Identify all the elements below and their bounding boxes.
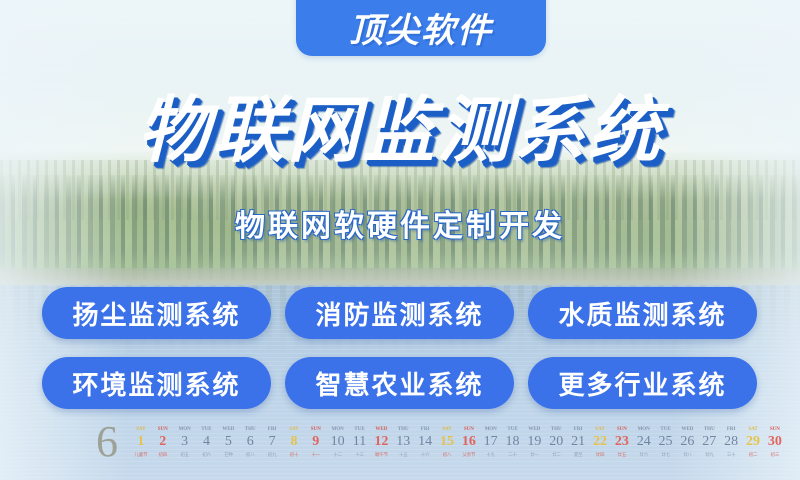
calendar-day: THU6初八 <box>239 427 261 461</box>
calendar-day: WED26廿八 <box>676 427 698 461</box>
calendar-day-number: 17 <box>480 435 502 453</box>
calendar-day-number: 10 <box>327 435 349 453</box>
calendar-day: MON3初五 <box>174 427 196 461</box>
brand-badge[interactable]: 顶尖软件 <box>296 0 546 56</box>
calendar-lunar-label: 初九 <box>261 453 283 461</box>
calendar-day: SUN30初三 <box>764 427 786 461</box>
calendar-lunar-label: 廿一 <box>523 453 545 461</box>
calendar-day-number: 24 <box>633 435 655 453</box>
calendar-days: SAT1儿童节SUN2初四MON3初五TUE4初六WED5芒种THU6初八FRI… <box>130 427 786 461</box>
calendar-lunar-label: 十三 <box>349 453 371 461</box>
calendar-day: WED12端午节 <box>370 427 392 461</box>
calendar-day-number: 12 <box>370 435 392 453</box>
calendar-day: SAT15初八 <box>436 427 458 461</box>
service-pill[interactable]: 更多行业系统 <box>528 357 757 409</box>
calendar-day: SUN2初四 <box>152 427 174 461</box>
calendar-lunar-label: 初三 <box>764 453 786 461</box>
calendar-day: FRI21夏至 <box>567 427 589 461</box>
calendar-lunar-label: 十一 <box>305 453 327 461</box>
calendar-day-number: 27 <box>698 435 720 453</box>
calendar-lunar-label: 十九 <box>480 453 502 461</box>
calendar-day: THU13十五 <box>392 427 414 461</box>
calendar-day-number: 5 <box>217 435 239 453</box>
calendar-day-number: 25 <box>655 435 677 453</box>
calendar-lunar-label: 初八 <box>436 453 458 461</box>
calendar-day-number: 1 <box>130 435 152 453</box>
calendar-day: SAT22廿四 <box>589 427 611 461</box>
calendar-lunar-label: 芒种 <box>217 453 239 461</box>
calendar-lunar-label: 初六 <box>196 453 218 461</box>
calendar-lunar-label: 初八 <box>239 453 261 461</box>
calendar-day: THU27廿九 <box>698 427 720 461</box>
calendar-lunar-label: 十二 <box>327 453 349 461</box>
calendar-day-number: 9 <box>305 435 327 453</box>
calendar-lunar-label: 廿五 <box>611 453 633 461</box>
calendar-lunar-label: 廿七 <box>655 453 677 461</box>
calendar-day: TUE18二十 <box>502 427 524 461</box>
brand-badge-label: 顶尖软件 <box>349 10 493 52</box>
calendar-day-number: 19 <box>523 435 545 453</box>
service-pill[interactable]: 消防监测系统 <box>285 287 514 339</box>
calendar-day-number: 14 <box>414 435 436 453</box>
calendar-lunar-label: 廿九 <box>698 453 720 461</box>
calendar-day-number: 20 <box>545 435 567 453</box>
calendar-day-number: 28 <box>720 435 742 453</box>
calendar-day-number: 23 <box>611 435 633 453</box>
calendar-day: SAT8初十 <box>283 427 305 461</box>
calendar-day-number: 26 <box>676 435 698 453</box>
calendar-lunar-label: 初五 <box>174 453 196 461</box>
calendar-lunar-label: 十五 <box>392 453 414 461</box>
calendar-day: SAT29初二 <box>742 427 764 461</box>
service-pill[interactable]: 扬尘监测系统 <box>42 287 271 339</box>
calendar-lunar-label: 三十 <box>720 453 742 461</box>
calendar-day-number: 13 <box>392 435 414 453</box>
service-pill[interactable]: 水质监测系统 <box>528 287 757 339</box>
calendar-lunar-label: 初十 <box>283 453 305 461</box>
calendar-day: SUN23廿五 <box>611 427 633 461</box>
calendar-day: TUE4初六 <box>196 427 218 461</box>
calendar-strip: 6 SAT1儿童节SUN2初四MON3初五TUE4初六WED5芒种THU6初八F… <box>0 414 800 480</box>
calendar-day: SUN9十一 <box>305 427 327 461</box>
calendar-lunar-label: 初二 <box>742 453 764 461</box>
calendar-day: WED5芒种 <box>217 427 239 461</box>
calendar-day-number: 6 <box>239 435 261 453</box>
calendar-lunar-label: 儿童节 <box>130 453 152 461</box>
calendar-lunar-label: 十六 <box>414 453 436 461</box>
calendar-lunar-label: 廿四 <box>589 453 611 461</box>
calendar-lunar-label: 廿二 <box>545 453 567 461</box>
calendar-day-number: 15 <box>436 435 458 453</box>
calendar-day: THU20廿二 <box>545 427 567 461</box>
service-pill[interactable]: 智慧农业系统 <box>285 357 514 409</box>
calendar-lunar-label: 夏至 <box>567 453 589 461</box>
calendar-day-number: 29 <box>742 435 764 453</box>
calendar-day-number: 22 <box>589 435 611 453</box>
calendar-day-number: 16 <box>458 435 480 453</box>
calendar-lunar-label: 初四 <box>152 453 174 461</box>
calendar-day: WED19廿一 <box>523 427 545 461</box>
calendar-lunar-label: 二十 <box>502 453 524 461</box>
calendar-lunar-label: 端午节 <box>370 453 392 461</box>
calendar-day-number: 11 <box>349 435 371 453</box>
calendar-lunar-label: 廿八 <box>676 453 698 461</box>
calendar-day-number: 4 <box>196 435 218 453</box>
calendar-day: TUE25廿七 <box>655 427 677 461</box>
calendar-day-number: 3 <box>174 435 196 453</box>
calendar-day-number: 30 <box>764 435 786 453</box>
calendar-day-number: 8 <box>283 435 305 453</box>
service-pill[interactable]: 环境监测系统 <box>42 357 271 409</box>
calendar-day: TUE11十三 <box>349 427 371 461</box>
calendar-day: MON17十九 <box>480 427 502 461</box>
calendar-day: FRI14十六 <box>414 427 436 461</box>
calendar-day: MON10十二 <box>327 427 349 461</box>
calendar-lunar-label: 廿六 <box>633 453 655 461</box>
promo-banner: 顶尖软件 物联网监测系统 物联网软硬件定制开发 扬尘监测系统消防监测系统水质监测… <box>0 0 800 480</box>
calendar-lunar-label: 父亲节 <box>458 453 480 461</box>
calendar-day-number: 2 <box>152 435 174 453</box>
calendar-day: SAT1儿童节 <box>130 427 152 461</box>
calendar-day-number: 18 <box>502 435 524 453</box>
page-title: 物联网监测系统 <box>0 88 800 174</box>
calendar-day: FRI28三十 <box>720 427 742 461</box>
calendar-day: FRI7初九 <box>261 427 283 461</box>
calendar-day: SUN16父亲节 <box>458 427 480 461</box>
page-subtitle: 物联网软硬件定制开发 <box>0 208 800 246</box>
service-pill-grid: 扬尘监测系统消防监测系统水质监测系统环境监测系统智慧农业系统更多行业系统 <box>42 287 758 409</box>
calendar-day-number: 7 <box>261 435 283 453</box>
calendar-day-number: 21 <box>567 435 589 453</box>
calendar-day: MON24廿六 <box>633 427 655 461</box>
calendar-month-number: 6 <box>96 420 118 464</box>
